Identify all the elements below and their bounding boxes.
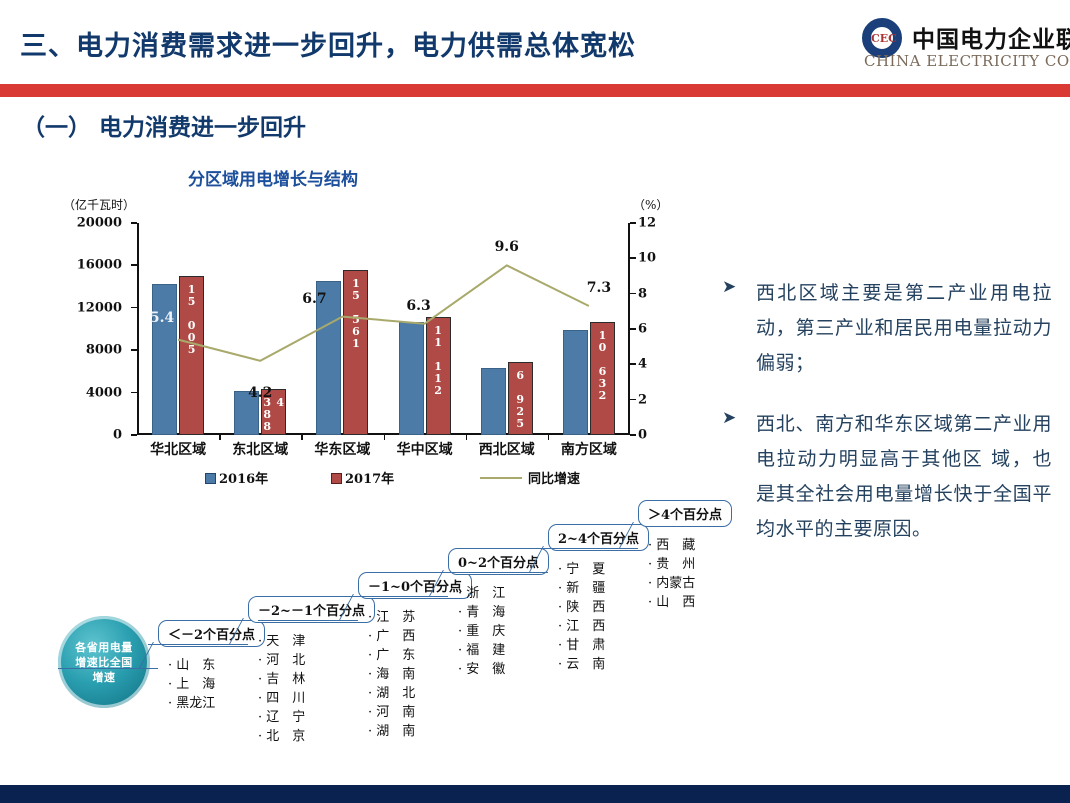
region-electricity-chart: （亿千瓦时） （%） 04000800012000160002000002468… [55,196,675,496]
chart-plot-area: 04000800012000160002000002468101215 005华… [137,223,630,435]
list-item: · 辽 宁 [258,708,305,727]
list-item: · 安 徽 [458,660,505,679]
y-tick-label-left: 8000 [86,343,122,358]
flow-province-list: · 宁 夏· 新 疆· 陕 西· 江 西· 甘 肃· 云 南 [558,560,605,674]
chart-title: 分区域用电增长与结构 [188,165,358,190]
y-tick-label-right: 0 [638,428,647,443]
y-tick-label-right: 8 [638,286,647,301]
y-tick-right [630,293,636,295]
list-item: · 河 南 [368,703,415,722]
list-item: · 宁 夏 [558,560,605,579]
bullet-text-2: 西北、南方和华东区域第二产业用电拉动力明显高于其他区 域，也是其全社会用电量增长… [756,407,1052,547]
growth-rate-label: 6.3 [406,298,430,314]
y-tick-label-left: 16000 [77,258,122,273]
list-item: · 黑龙江 [168,694,215,713]
y-tick-label-left: 4000 [86,385,122,400]
growth-rate-line [137,223,630,435]
list-item: · 湖 北 [368,684,415,703]
logo-english-name: CHINA ELECTRICITY COUNCIL [864,52,1070,70]
bullet-text-1: 西北区域主要是第二产业用电拉动，第三产业和居民用电量拉动力偏弱； [756,276,1052,381]
legend-label-2017: 2017年 [345,472,394,487]
list-item: · 西 藏 [648,536,695,555]
list-item: · 河 北 [258,651,305,670]
list-item: · 甘 肃 [558,636,605,655]
footer-bar [0,785,1070,803]
list-item: ➤ 西北、南方和华东区域第二产业用电拉动力明显高于其他区 域，也是其全社会用电量… [722,407,1052,547]
y-tick-right [630,434,636,436]
flow-group-label[interactable]: ＞4个百分点 [638,500,732,527]
cec-emblem-text: CEC [869,25,895,51]
legend-item-growth: 同比增速 [480,468,580,487]
y-axis-unit-left: （亿千瓦时） [63,196,135,213]
growth-rate-label: 6.7 [302,291,326,307]
x-axis-category-label: 华北区域 [150,439,206,459]
flow-province-list: · 西 藏· 贵 州· 内蒙古· 山 西 [648,536,695,612]
list-item: · 广 东 [368,646,415,665]
arrow-bullet-icon: ➤ [722,279,736,296]
commentary-list: ➤ 西北区域主要是第二产业用电拉动，第三产业和居民用电量拉动力偏弱； ➤ 西北、… [722,276,1052,573]
flow-connector-line [58,668,158,669]
flow-province-list: · 浙 江· 青 海· 重 庆· 福 建· 安 徽 [458,584,505,679]
org-logo: CEC 中国电力企业联合会 CHINA ELECTRICITY COUNCIL [862,16,1062,78]
list-item: · 天 津 [258,632,305,651]
growth-rate-label: 9.6 [495,239,519,255]
list-item: · 新 疆 [558,579,605,598]
list-item: · 陕 西 [558,598,605,617]
x-axis-category-label: 南方区域 [561,439,617,459]
list-item: · 山 东 [168,656,215,675]
logo-chinese-name: 中国电力企业联合会 [912,20,1070,54]
list-item: · 吉 林 [258,670,305,689]
legend-item-2016: 2016年 [205,468,268,487]
chart-legend: 2016年 2017年 同比增速 [205,468,675,488]
x-axis-category-label: 西北区域 [479,439,535,459]
y-tick-label-right: 2 [638,392,647,407]
header-red-rule [0,84,1070,97]
list-item: · 青 海 [458,603,505,622]
flow-connector-line [448,572,548,573]
list-item: ➤ 西北区域主要是第二产业用电拉动，第三产业和居民用电量拉动力偏弱； [722,276,1052,381]
flow-root-node: 各省用电量增速比全国增速 [58,616,150,708]
y-tick-right [630,363,636,365]
y-tick-label-right: 4 [638,357,647,372]
x-axis-category-label: 华东区域 [314,439,370,459]
flow-province-list: · 山 东· 上 海· 黑龙江 [168,656,215,713]
legend-swatch-2016 [205,473,216,484]
y-tick-label-left: 0 [113,428,122,443]
y-tick-label-right: 12 [638,216,656,231]
legend-item-2017: 2017年 [331,468,394,487]
legend-label-growth: 同比增速 [528,472,580,487]
growth-rate-label: 5.4 [150,310,174,326]
legend-swatch-growth-line [480,477,522,479]
y-tick-label-left: 12000 [77,300,122,315]
y-tick-label-left: 20000 [77,216,122,231]
legend-swatch-2017 [331,473,342,484]
y-tick-right [630,257,636,259]
flow-root-label: 各省用电量增速比全国增速 [72,640,136,685]
page-title: 三、电力消费需求进一步回升，电力供需总体宽松 [20,24,636,63]
flow-group-label[interactable]: －1~0个百分点 [358,572,472,599]
list-item: · 山 西 [648,593,695,612]
flow-connector-line [258,620,358,621]
list-item: · 四 川 [258,689,305,708]
flow-connector-line [538,548,638,549]
flow-province-list: · 天 津· 河 北· 吉 林· 四 川· 辽 宁· 北 京 [258,632,305,746]
flow-connector-line [148,644,248,645]
section-subtitle: （一） 电力消费进一步回升 [22,108,306,142]
list-item: · 浙 江 [458,584,505,603]
list-item: · 湖 南 [368,722,415,741]
list-item: · 内蒙古 [648,574,695,593]
y-tick-right [630,328,636,330]
list-item: · 贵 州 [648,555,695,574]
legend-label-2016: 2016年 [219,472,268,487]
y-tick-label-right: 10 [638,251,656,266]
growth-rate-label: 4.2 [248,385,272,401]
y-axis-unit-right: （%） [633,196,668,213]
flow-province-list: · 江 苏· 广 西· 广 东· 海 南· 湖 北· 河 南· 湖 南 [368,608,415,741]
list-item: · 江 苏 [368,608,415,627]
arrow-bullet-icon: ➤ [722,410,736,427]
slide-root: 三、电力消费需求进一步回升，电力供需总体宽松 CEC 中国电力企业联合会 CHI… [0,0,1070,803]
list-item: · 重 庆 [458,622,505,641]
list-item: · 江 西 [558,617,605,636]
list-item: · 北 京 [258,727,305,746]
list-item: · 广 西 [368,627,415,646]
list-item: · 上 海 [168,675,215,694]
flow-connector-line [348,596,448,597]
x-axis-category-label: 华中区域 [397,439,453,459]
list-item: · 海 南 [368,665,415,684]
list-item: · 云 南 [558,655,605,674]
growth-rate-label: 7.3 [587,280,611,296]
y-tick-right [630,399,636,401]
list-item: · 福 建 [458,641,505,660]
x-axis-category-label: 东北区域 [232,439,288,459]
y-tick-label-right: 6 [638,322,647,337]
province-growth-flow-diagram: 各省用电量增速比全国增速 ＜－2个百分点· 山 东· 上 海· 黑龙江－2~－1… [40,498,740,783]
y-tick-right [630,222,636,224]
